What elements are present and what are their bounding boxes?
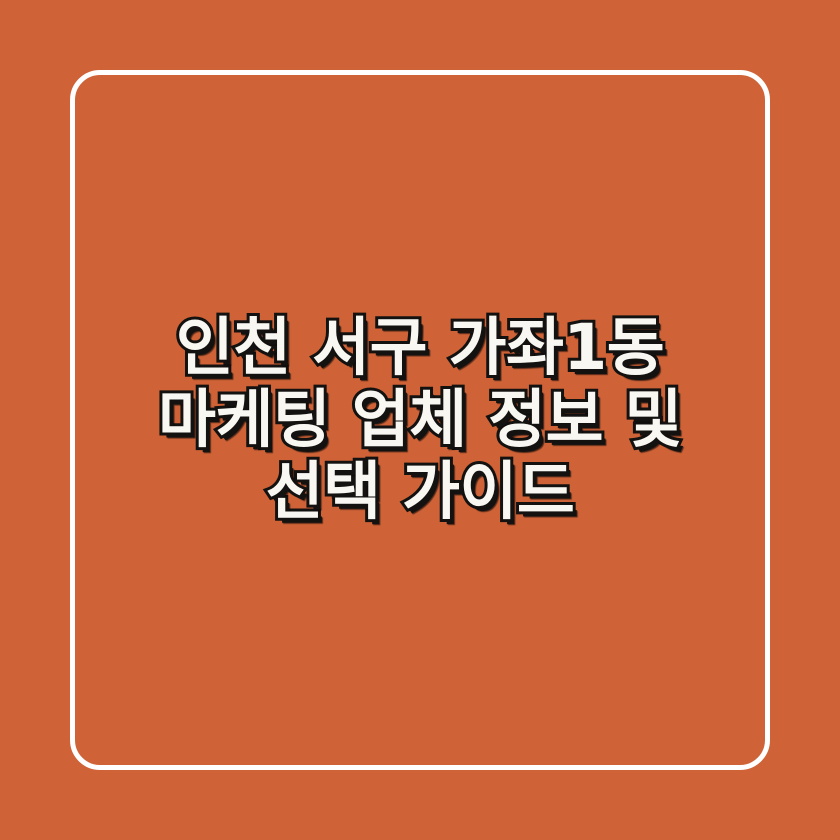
headline-line-2: 마케팅 업체 정보 및 — [96, 384, 744, 456]
thumbnail-card: 인천 서구 가좌1동 마케팅 업체 정보 및 선택 가이드 — [0, 0, 840, 840]
headline-line-3: 선택 가이드 — [96, 456, 744, 528]
headline-line-1: 인천 서구 가좌1동 — [96, 312, 744, 384]
headline-block: 인천 서구 가좌1동 마케팅 업체 정보 및 선택 가이드 — [70, 70, 770, 770]
